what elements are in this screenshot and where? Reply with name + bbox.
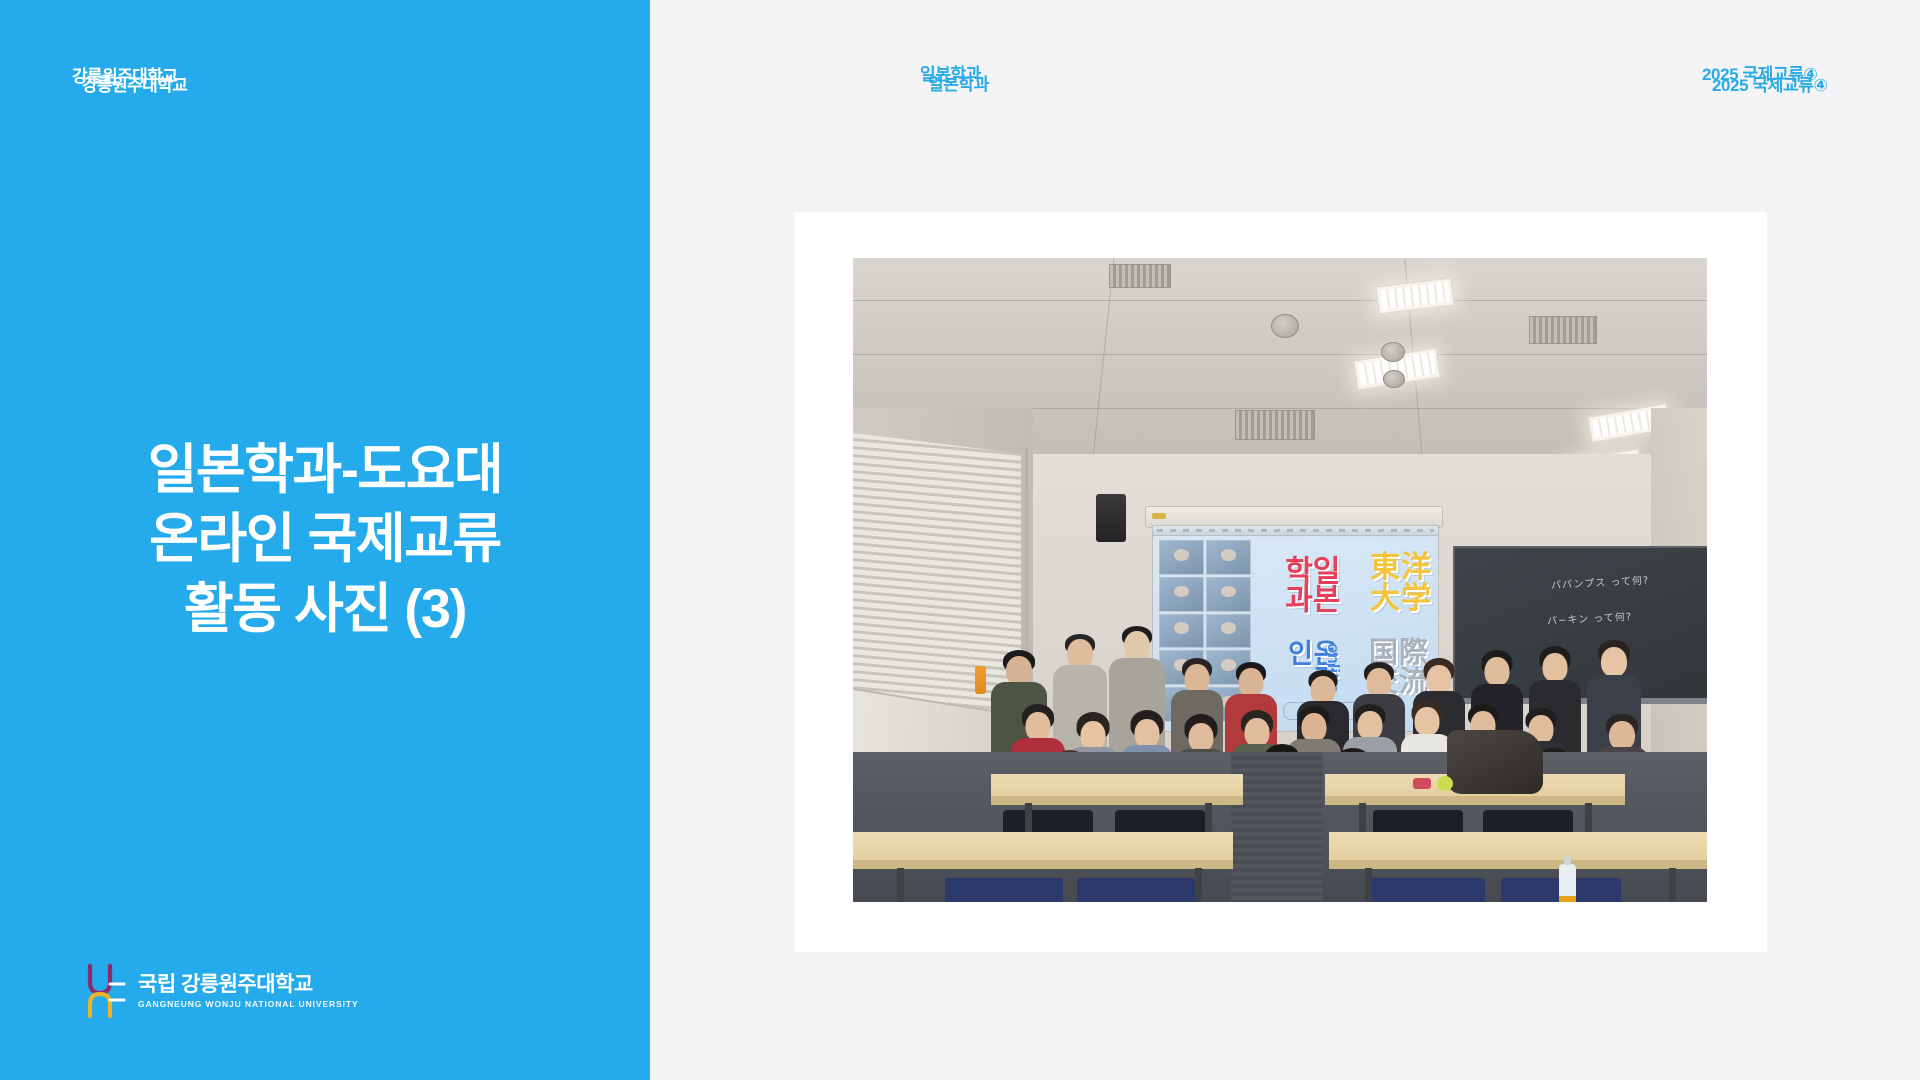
page-title: 일본학과-도요대 온라인 국제교류 활동 사진 (3) [0,0,650,1080]
page-title-line-3: 활동 사진 (3) [184,575,466,644]
chair [1077,878,1195,902]
desk-row-2-left [853,832,1233,864]
ceiling-speaker-2 [1381,342,1405,362]
video-tile [1159,540,1204,575]
page-title-line-1: 일본학과-도요대 [148,436,503,505]
ceiling-speaker-1 [1271,314,1299,338]
ball-object [1437,776,1453,791]
screen-app-toolbar [1153,526,1438,536]
center-aisle [1231,752,1323,902]
university-logo-mark-icon [80,960,126,1022]
ceiling-vent-right [1529,316,1597,344]
ceiling-vent-center [1235,410,1315,440]
slide-canvas: 강릉원주대학교 강릉원주대학교 일본학과-도요대 온라인 국제교류 활동 사진 … [0,0,1920,1080]
chair [1365,878,1485,902]
group-photo: 일본학과 東洋大学 온라인 online 国際交流 パパンプス って何? パ−キ… [853,258,1707,902]
page-title-line-2: 온라인 국제교류 [149,505,501,574]
chair [945,878,1063,902]
classroom-scene: 일본학과 東洋大学 온라인 online 国際交流 パパンプス って何? パ−キ… [853,258,1707,902]
water-bottle [1559,864,1576,902]
university-name-korean: 국립 강릉원주대학교 [138,974,359,995]
university-logo: 국립 강릉원주대학교 GANGNEUNG WONJU NATIONAL UNIV… [80,960,359,1022]
photo-frame: 일본학과 東洋大学 온라인 online 国際交流 パパンプス って何? パ−キ… [795,212,1767,952]
header-program-text-front: 2025 국제교류④ [1712,71,1828,96]
phone-object [1413,778,1431,789]
header-department-text-front: 일본학과 [928,70,989,95]
ceiling-speaker-3 [1383,370,1405,388]
backpack [1447,730,1543,794]
air-conditioner-unit [1145,506,1443,528]
desk-row-2-right [1329,832,1707,864]
university-wordmark: 국립 강릉원주대학교 GANGNEUNG WONJU NATIONAL UNIV… [138,974,359,1009]
desk-row-1-left [991,774,1243,800]
left-accent-panel: 강릉원주대학교 강릉원주대학교 일본학과-도요대 온라인 국제교류 활동 사진 … [0,0,650,1080]
video-tile [1206,540,1251,575]
university-name-english: GANGNEUNG WONJU NATIONAL UNIVERSITY [138,1000,359,1009]
wall-speaker-box [1096,494,1126,542]
ceiling-vent-left [1109,264,1171,288]
